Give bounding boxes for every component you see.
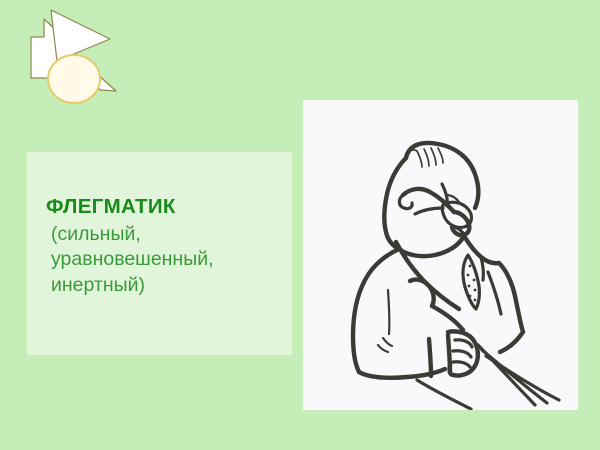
hair-strand-4 xyxy=(438,148,443,163)
text-panel: ФЛЕГМАТИК (сильный, уравновешенный, инер… xyxy=(27,152,292,355)
sleeve-crease-1 xyxy=(388,290,389,334)
sleeve-crease-2 xyxy=(383,338,392,346)
illustration-panel xyxy=(303,100,578,410)
phlegmatic-man-cartoon xyxy=(303,100,578,410)
hair-strand-2 xyxy=(424,149,429,166)
hand-outline xyxy=(448,331,478,375)
cuff-line-left xyxy=(429,339,431,376)
subtitle-line-2: уравновешенный, xyxy=(51,247,286,272)
glasses-temple xyxy=(415,208,443,214)
right-shoulder-outline xyxy=(499,263,523,332)
finger-1 xyxy=(455,340,472,347)
jacket-hem-right xyxy=(500,332,523,352)
sleeve-crease-3 xyxy=(378,345,388,352)
finger-2 xyxy=(453,351,471,357)
subtitle-line-3: инертный) xyxy=(51,273,286,298)
jacket-fold-right xyxy=(488,272,501,314)
brow-curl xyxy=(399,195,412,209)
rod-line-4 xyxy=(417,380,471,409)
head-back-to-neck xyxy=(384,158,406,249)
collar-fold-right xyxy=(481,257,483,280)
slide-root: ФЛЕГМАТИК (сильный, уравновешенный, инер… xyxy=(0,0,600,450)
finger-3 xyxy=(453,362,470,367)
hair-strand-3 xyxy=(431,148,436,165)
subtitle-line-1: (сильный, xyxy=(51,222,286,247)
jaw-and-cheek xyxy=(399,236,464,256)
logo-triangle-shape xyxy=(51,10,110,61)
left-shoulder-arm xyxy=(353,249,399,372)
arrow-and-circle-logo xyxy=(24,6,124,112)
hair-strand-1 xyxy=(417,151,422,167)
jacket-front-notch xyxy=(410,280,434,306)
logo-circle-shape xyxy=(48,55,100,103)
temperament-description: ФЛЕГМАТИК (сильный, уравновешенный, инер… xyxy=(46,196,286,298)
necktie xyxy=(463,255,479,309)
page-title: ФЛЕГМАТИК xyxy=(46,196,286,219)
